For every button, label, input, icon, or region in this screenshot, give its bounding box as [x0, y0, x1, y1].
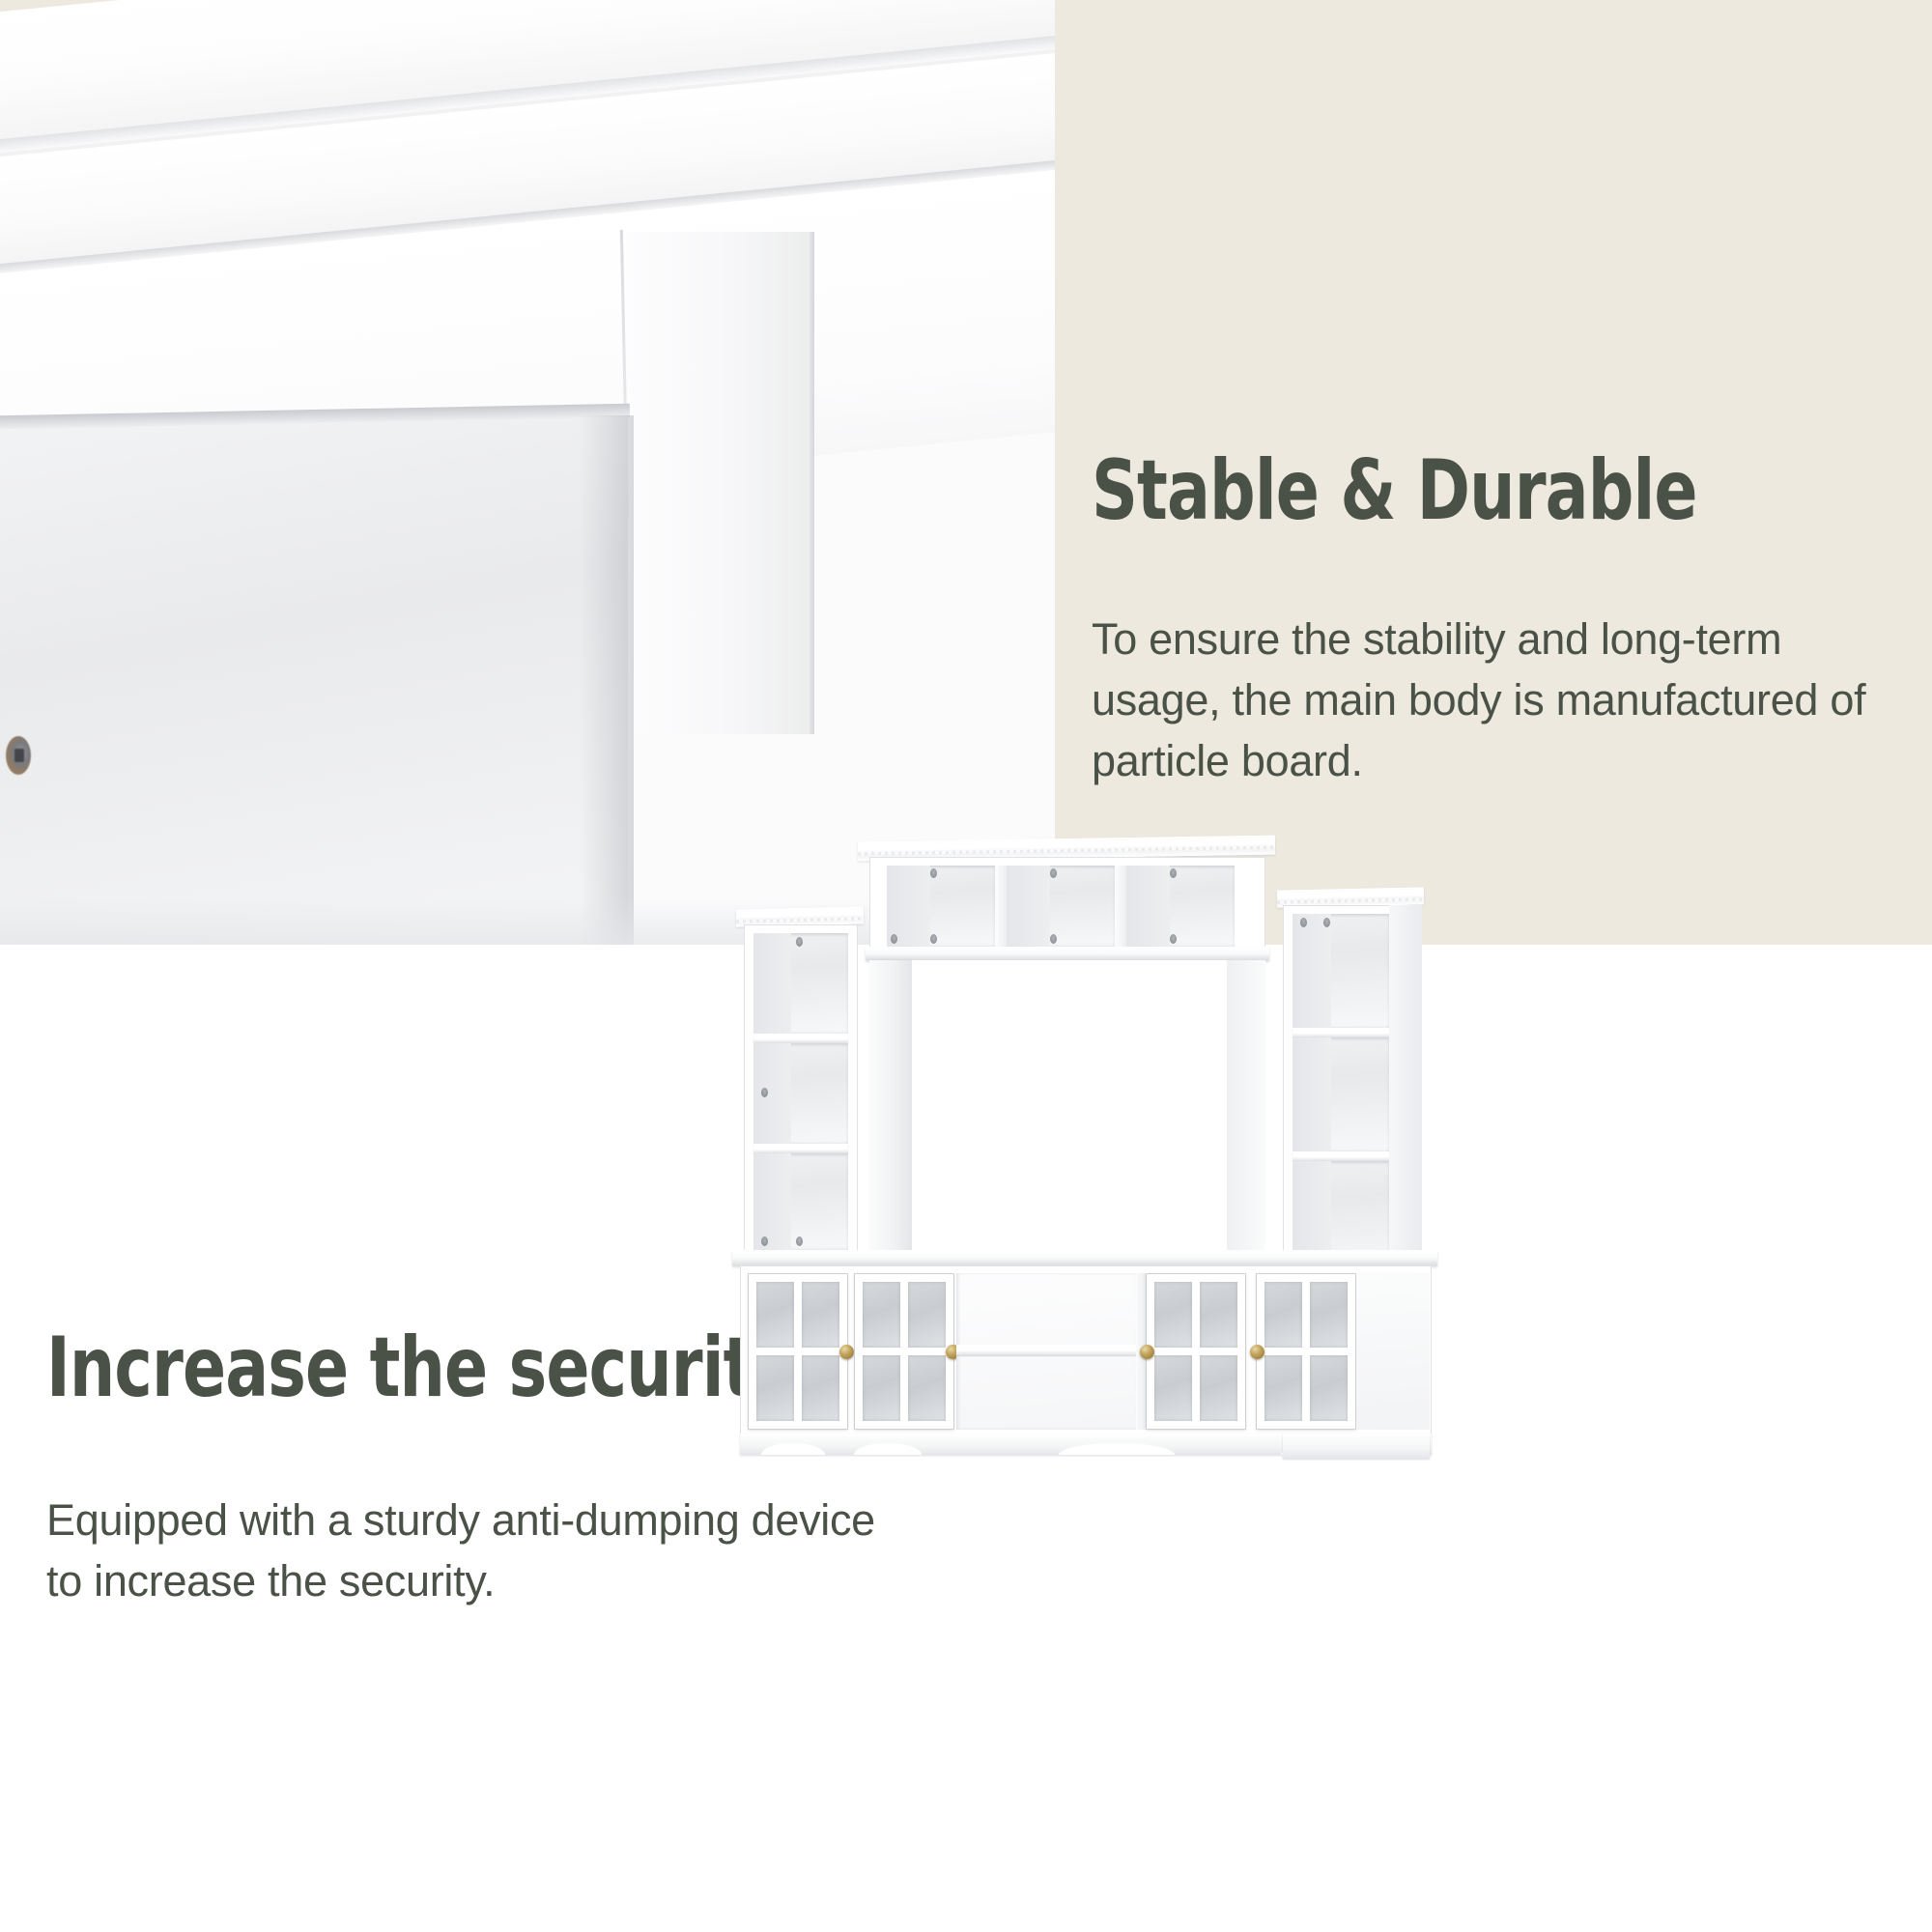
left-tower-divider-shelf-1: [753, 1034, 848, 1043]
plinth-foot-cut-2: [854, 1443, 922, 1455]
stable-durable-text-block: Stable & Durable Stable & Durable To ens…: [1092, 446, 1884, 791]
right-tower-shelf-1-screw-b: [1323, 918, 1330, 927]
stable-durable-body: To ensure the stability and long-term us…: [1092, 609, 1884, 791]
increase-security-headline: Increase the security: [46, 1323, 794, 1412]
door-2-pane-tr: [908, 1282, 946, 1348]
door-2-pane-br: [908, 1355, 946, 1421]
door-4-pane-br: [1310, 1355, 1348, 1421]
left-tower-shelf-1: [753, 933, 848, 1034]
door-1-pane-br: [802, 1355, 839, 1421]
hutch-left-leg: [869, 960, 912, 1250]
tv-stand-door-1-knob[interactable]: [839, 1345, 854, 1359]
cabinet-interior-recess: [0, 415, 628, 945]
left-tower-shelf-3-screw-b: [796, 1236, 803, 1246]
left-tower-divider-shelf-2: [753, 1144, 848, 1153]
left-tower-shelf-3-back: [753, 1153, 791, 1250]
door-1-pane-tl: [756, 1282, 794, 1348]
tv-stand-right-end-panel: [1356, 1273, 1430, 1430]
right-tower-side-panel: [1389, 905, 1422, 1274]
stable-durable-headline: Stable & Durable: [1092, 446, 1697, 535]
right-tower-shelf-1: [1293, 914, 1389, 1028]
left-tower-shelf-2-back: [753, 1043, 791, 1144]
panel-increase-security: Increase the security Increase the secur…: [0, 945, 1932, 1932]
hutch-cubby-1-screw-bottom: [930, 934, 937, 944]
hutch-cubby-2-back: [1007, 866, 1050, 947]
interior-corner-shadow: [580, 415, 634, 945]
door-2-pane-tl: [863, 1282, 900, 1348]
left-tower-shelf-2-screw: [761, 1088, 768, 1097]
right-tower-shelf-1-screw-a: [1300, 918, 1307, 927]
hutch-bottom-shelf: [866, 947, 1269, 960]
door-4-pane-bl: [1264, 1355, 1302, 1421]
left-tower-crown-ridge: [736, 917, 864, 923]
door-1-pane-tr: [802, 1282, 839, 1348]
plinth-foot-cut-3: [1059, 1443, 1175, 1455]
tv-stand-door-4-pane-grid: [1264, 1282, 1348, 1421]
cam-lock-screw-slot: [14, 749, 24, 762]
door-3-pane-tr: [1200, 1282, 1237, 1348]
tv-opening: [912, 960, 1227, 1250]
door-3-pane-tl: [1154, 1282, 1192, 1348]
panel-stable-durable: Stable & Durable Stable & Durable To ens…: [0, 0, 1932, 945]
right-tower-shelf-2: [1293, 1037, 1389, 1151]
stable-durable-headline-wrap: Stable & Durable Stable & Durable: [1092, 446, 1884, 572]
left-tower-shelf-2: [753, 1043, 848, 1144]
crown-moulding-closeup-photo: [0, 0, 1055, 945]
hutch-divider-2: [1115, 866, 1126, 947]
hutch-cubby-2-screw-top: [1050, 868, 1057, 878]
hutch-divider-1: [995, 866, 1007, 947]
hutch-cubby-3-screw-bottom: [1170, 934, 1177, 944]
hutch-cubby-2-screw-bottom: [1050, 934, 1057, 944]
hutch-cubby-3: [1126, 866, 1235, 947]
cabinet-vertical-post: [626, 232, 814, 734]
plinth-foot-cut-1: [761, 1443, 825, 1455]
hutch-cubby-1-screw-left: [891, 934, 897, 944]
right-tower-divider-shelf-2: [1293, 1151, 1389, 1161]
right-tower-crown-ridge: [1277, 897, 1424, 903]
door-4-pane-tl: [1264, 1282, 1302, 1348]
door-3-pane-br: [1200, 1355, 1237, 1421]
tv-stand-top-surface: [732, 1250, 1437, 1265]
door-1-pane-bl: [756, 1355, 794, 1421]
tv-stand-door-3-knob[interactable]: [1140, 1345, 1154, 1359]
tv-stand-door-1[interactable]: [748, 1273, 848, 1430]
tv-stand-door-4-knob[interactable]: [1250, 1345, 1264, 1359]
hutch-crown-ridge: [858, 846, 1275, 856]
hutch-cubby-3-back: [1126, 866, 1170, 947]
tv-stand-center-shelf: [956, 1345, 1136, 1355]
tv-stand-door-2-pane-grid: [863, 1282, 946, 1421]
right-tower-plinth: [1283, 1434, 1430, 1459]
hutch-cubby-1-screw-top: [930, 868, 937, 878]
tv-stand-door-1-pane-grid: [756, 1282, 839, 1421]
left-tower-shelf-1-back: [753, 933, 791, 1034]
door-2-pane-bl: [863, 1355, 900, 1421]
tv-stand-door-3-pane-grid: [1154, 1282, 1237, 1421]
increase-security-body: Equipped with a sturdy anti-dumping devi…: [46, 1490, 916, 1611]
product-feature-page: Stable & Durable Stable & Durable To ens…: [0, 0, 1932, 1932]
entertainment-center-illustration: [947, 838, 1913, 1901]
hutch-cubby-3-screw-top: [1170, 868, 1177, 878]
hutch-cubby-2: [1007, 866, 1115, 947]
hutch-cubby-1: [887, 866, 995, 947]
tv-stand-door-3[interactable]: [1146, 1273, 1246, 1430]
tv-stand-door-2[interactable]: [854, 1273, 954, 1430]
door-4-pane-tr: [1310, 1282, 1348, 1348]
door-3-pane-bl: [1154, 1355, 1192, 1421]
right-tower-shelf-1-back: [1293, 914, 1331, 1028]
left-tower-shelf-3-screw-a: [761, 1236, 768, 1246]
left-tower-shelf-3: [753, 1153, 848, 1250]
hutch-right-leg: [1227, 960, 1265, 1250]
left-tower-shelf-1-screw: [796, 937, 803, 947]
right-tower-shelf-2-back: [1293, 1037, 1331, 1151]
right-tower-divider-shelf-1: [1293, 1028, 1389, 1037]
cabinet-post-edge: [810, 232, 814, 734]
tv-stand-door-4[interactable]: [1256, 1273, 1356, 1430]
